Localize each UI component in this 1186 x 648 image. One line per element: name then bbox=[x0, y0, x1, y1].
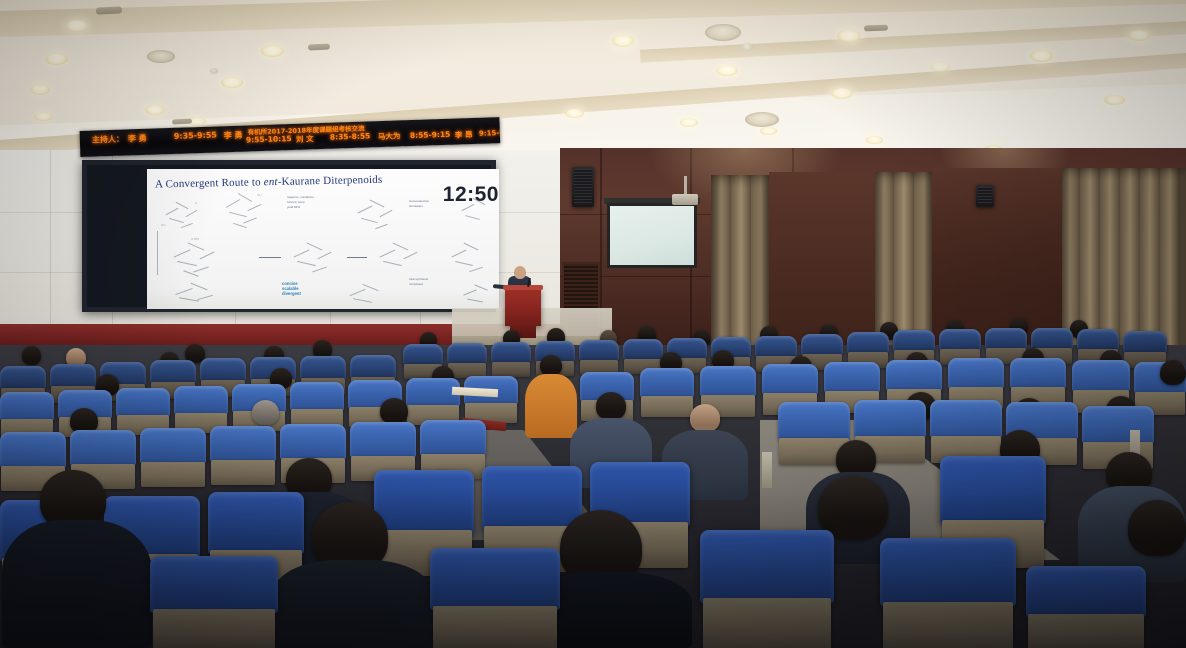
slide-divider bbox=[157, 231, 158, 275]
soffit-downlight bbox=[866, 136, 883, 144]
audience-seat[interactable] bbox=[491, 342, 531, 376]
soffit-downlight bbox=[760, 127, 777, 135]
audience-seat[interactable] bbox=[140, 428, 206, 486]
ceiling-downlight bbox=[837, 30, 861, 42]
led-text-time-1: 9:35-9:55 bbox=[174, 130, 217, 140]
reaction-arrow bbox=[347, 257, 367, 258]
audience-head bbox=[380, 398, 408, 424]
led-text-name-4: 李 昂 bbox=[455, 129, 473, 141]
chemical-structure: OTBS bbox=[167, 235, 225, 279]
soffit-downlight bbox=[34, 112, 53, 121]
audience-head bbox=[22, 346, 41, 365]
right-wall-speaker bbox=[976, 185, 994, 207]
ceiling-downlight bbox=[1030, 50, 1053, 62]
audience-head bbox=[540, 355, 562, 376]
soffit-downlight bbox=[565, 109, 584, 118]
chemical-structure bbox=[287, 235, 341, 279]
reaction-arrow bbox=[259, 257, 281, 258]
audience-shoulders bbox=[2, 520, 152, 648]
chemical-structure bbox=[169, 277, 225, 309]
slide-highlight-caption: concise scalable divergent bbox=[282, 281, 301, 296]
ceiling-downlight bbox=[66, 20, 88, 32]
ceiling-vent bbox=[308, 43, 330, 50]
ceiling-downlight bbox=[1128, 30, 1150, 41]
ceiling-downlight bbox=[30, 84, 50, 95]
smoke-detector bbox=[742, 43, 753, 51]
reaction-condition-text: reagents, conditionssolvent, tempyield 8… bbox=[287, 195, 347, 210]
smoke-detector bbox=[210, 68, 218, 74]
main-projection-screen[interactable]: A Convergent Route to ent-Kaurane Diterp… bbox=[82, 160, 496, 312]
left-wall-speaker bbox=[572, 167, 594, 207]
chemical-structure bbox=[445, 233, 495, 279]
led-text-name-1: 李 勇 bbox=[224, 130, 243, 142]
audience-seat[interactable] bbox=[430, 548, 560, 648]
led-text-host-name: 李 勇 bbox=[128, 133, 147, 145]
chemical-structure bbox=[457, 191, 497, 231]
audience-seat[interactable] bbox=[700, 530, 834, 648]
window-curtain bbox=[711, 175, 769, 355]
led-text-name-2: 刘 文 bbox=[296, 133, 314, 145]
ceiling-vent bbox=[172, 118, 192, 124]
soffit-downlight bbox=[680, 118, 698, 127]
chemical-structure bbox=[343, 279, 397, 309]
air-diffuser bbox=[705, 24, 741, 41]
audience-seat[interactable] bbox=[880, 538, 1016, 648]
ceiling-downlight bbox=[261, 45, 284, 57]
projector-mount-arm bbox=[684, 176, 687, 196]
chemical-structure: OH bbox=[219, 189, 271, 235]
audience-seat[interactable] bbox=[464, 376, 518, 422]
secondary-screen-surface bbox=[610, 206, 694, 265]
ceiling-downlight bbox=[930, 62, 950, 72]
audience-seat[interactable] bbox=[150, 556, 278, 648]
chemical-structure bbox=[459, 279, 497, 309]
air-diffuser bbox=[147, 50, 175, 63]
auditorium-photo: A Convergent Route to ent-Kaurane Diterp… bbox=[0, 0, 1186, 648]
audience-seat[interactable] bbox=[290, 382, 344, 428]
led-text-time-5: 9:15-9:35 bbox=[479, 129, 500, 138]
secondary-projection-screen[interactable] bbox=[607, 203, 697, 268]
air-diffuser bbox=[745, 112, 779, 127]
ceiling-downlight bbox=[612, 35, 634, 47]
ceiling-vent bbox=[864, 25, 888, 32]
ceiling-downlight bbox=[145, 105, 165, 115]
audience-seat[interactable] bbox=[579, 340, 619, 374]
audience-seat[interactable] bbox=[1026, 566, 1146, 648]
chemical-structure bbox=[373, 235, 427, 279]
audience-head bbox=[1160, 360, 1186, 385]
ceiling-downlight bbox=[1104, 95, 1125, 105]
wall-air-grille bbox=[562, 262, 600, 312]
led-text-host: 主持人： bbox=[92, 134, 124, 146]
audience-shoulders bbox=[272, 560, 434, 648]
lectern-podium[interactable] bbox=[505, 288, 541, 326]
audience-seat[interactable] bbox=[930, 400, 1002, 462]
presenter-head bbox=[514, 266, 526, 279]
chemical-structure: HO O bbox=[161, 193, 207, 233]
chemical-structure bbox=[352, 193, 402, 235]
led-text-name-3: 马大为 bbox=[378, 130, 401, 142]
audience-seat[interactable] bbox=[406, 378, 460, 424]
ceiling-vent bbox=[96, 6, 122, 14]
ceiling-projector bbox=[672, 194, 698, 205]
audience-head bbox=[690, 404, 720, 432]
audience-head bbox=[1128, 500, 1186, 556]
audience-head bbox=[252, 400, 279, 425]
reaction-condition-text: total synthesiscompleted bbox=[409, 277, 465, 287]
lectern-top bbox=[503, 285, 543, 290]
audience-shoulders bbox=[525, 374, 577, 438]
ceiling-downlight bbox=[716, 65, 738, 76]
audience-head bbox=[596, 392, 626, 420]
seat-leg bbox=[762, 452, 772, 488]
ceiling-downlight bbox=[45, 53, 68, 65]
audience-seat[interactable] bbox=[210, 426, 276, 484]
projected-slide: A Convergent Route to ent-Kaurane Diterp… bbox=[147, 169, 499, 309]
led-text-time-3: 8:35-8:55 bbox=[330, 131, 371, 141]
led-text-time-4: 8:55-9:15 bbox=[410, 130, 451, 140]
ceiling-downlight bbox=[831, 88, 853, 99]
audience-seat[interactable] bbox=[640, 368, 694, 416]
ceiling-downlight bbox=[221, 77, 243, 88]
